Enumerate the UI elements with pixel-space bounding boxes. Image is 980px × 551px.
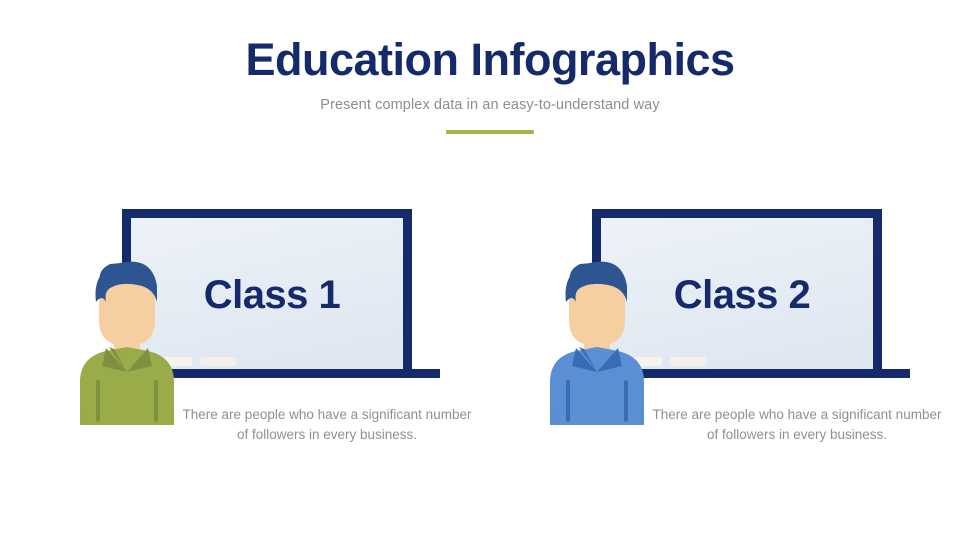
content-columns: Class 1 (0, 205, 980, 505)
page-title: Education Infographics (0, 36, 980, 85)
title-divider (446, 130, 534, 134)
whiteboard-eraser-2 (670, 357, 706, 366)
teacher-figure-2 (532, 250, 662, 425)
caption-1: There are people who have a significant … (177, 405, 477, 445)
teacher-graphic-2 (532, 250, 662, 425)
caption-2: There are people who have a significant … (647, 405, 947, 445)
teacher-figure-1 (62, 250, 192, 425)
sleeve-seam-right-1 (154, 380, 158, 422)
teacher-graphic-1 (62, 250, 192, 425)
header: Education Infographics Present complex d… (0, 36, 980, 134)
column-class-2: Class 2 There are people who hav (532, 205, 952, 505)
page-subtitle: Present complex data in an easy-to-under… (0, 97, 980, 113)
shirt-hem-1 (80, 410, 174, 425)
sleeve-seam-left-2 (566, 380, 570, 422)
sleeve-seam-left-1 (96, 380, 100, 422)
shirt-hem-2 (550, 410, 644, 425)
sleeve-seam-right-2 (624, 380, 628, 422)
column-class-1: Class 1 (62, 205, 482, 505)
whiteboard-eraser-1 (200, 357, 236, 366)
slide-canvas: Education Infographics Present complex d… (0, 0, 980, 551)
